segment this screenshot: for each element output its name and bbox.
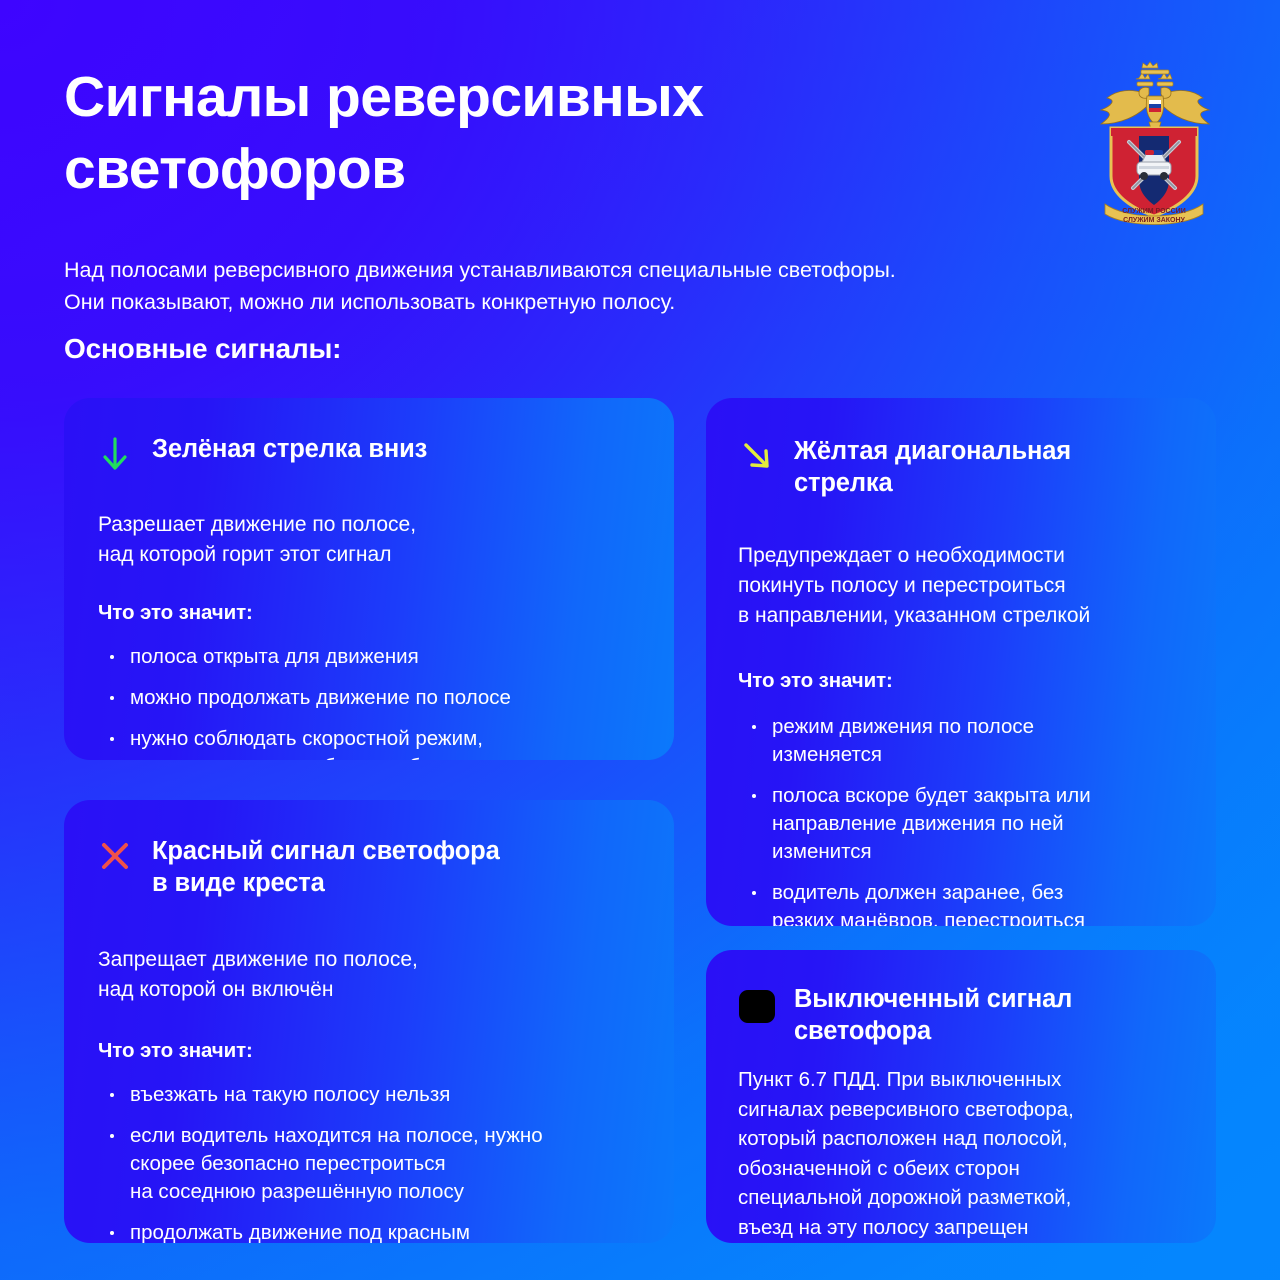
bullet-list: въезжать на такую полосу нельзя если вод…	[96, 1081, 638, 1243]
black-square-shape	[739, 990, 775, 1023]
means-label: Что это значит:	[738, 669, 1182, 693]
card-lead-text: Разрешает движение по полосе, над которо…	[98, 510, 638, 570]
card-lead-text: Предупреждает о необходимости покинуть п…	[738, 541, 1182, 630]
list-item: нужно соблюдать скоростной режим, дистан…	[96, 725, 638, 760]
arrow-diagonal-down-right-icon	[738, 436, 776, 476]
means-label: Что это значит:	[98, 601, 638, 625]
card-title: Выключенный сигнал светофора	[794, 982, 1072, 1047]
list-item: полоса открыта для движения	[96, 643, 638, 671]
bullet-list: режим движения по полосе изменяется поло…	[738, 713, 1182, 926]
page-subtitle: Над полосами реверсивного движения устан…	[64, 255, 1064, 319]
means-label: Что это значит:	[98, 1039, 638, 1063]
list-item: если водитель находится на полосе, нужно…	[96, 1122, 638, 1206]
card-header: Жёлтая диагональная стрелка	[738, 434, 1182, 499]
card-yellow-diagonal-arrow: Жёлтая диагональная стрелка Предупреждае…	[706, 398, 1216, 926]
infographic-page: Сигналы реверсивных светофоров Над полос…	[0, 0, 1280, 1280]
card-red-cross: Красный сигнал светофора в виде креста З…	[64, 800, 674, 1243]
card-lead-text: Запрещает движение по полосе, над которо…	[98, 945, 638, 1005]
page-title: Сигналы реверсивных светофоров	[64, 62, 884, 206]
list-item: полоса вскоре будет закрыта или направле…	[738, 782, 1182, 866]
section-heading: Основные сигналы:	[64, 333, 341, 365]
arrow-down-icon	[96, 434, 134, 474]
page-header: Сигналы реверсивных светофоров	[64, 62, 1044, 206]
card-green-arrow: Зелёная стрелка вниз Разрешает движение …	[64, 398, 674, 760]
card-header: Красный сигнал светофора в виде креста	[96, 834, 638, 899]
emblem-motto-top: СЛУЖИМ РОССИИ	[1122, 208, 1185, 215]
card-header: Выключенный сигнал светофора	[738, 982, 1182, 1047]
bullet-list: полоса открыта для движения можно продол…	[96, 643, 638, 760]
list-item: въезжать на такую полосу нельзя	[96, 1081, 638, 1109]
cross-icon	[96, 836, 134, 876]
black-square-icon	[738, 984, 776, 1024]
mvd-gibdd-emblem-icon: СЛУЖИМ РОССИИ СЛУЖИМ ЗАКОНУ	[1087, 58, 1222, 228]
card-title: Жёлтая диагональная стрелка	[794, 434, 1071, 499]
list-item: водитель должен заранее, без резких манё…	[738, 879, 1182, 926]
card-signal-off: Выключенный сигнал светофора Пункт 6.7 П…	[706, 950, 1216, 1243]
card-title: Зелёная стрелка вниз	[152, 432, 427, 465]
emblem-motto-bottom: СЛУЖИМ ЗАКОНУ	[1123, 217, 1185, 224]
list-item: режим движения по полосе изменяется	[738, 713, 1182, 769]
card-header: Зелёная стрелка вниз	[96, 432, 638, 474]
list-item: продолжать движение под красным сигналом…	[96, 1219, 638, 1243]
card-title: Красный сигнал светофора в виде креста	[152, 834, 500, 899]
list-item: можно продолжать движение по полосе	[96, 684, 638, 712]
card-lead-text: Пункт 6.7 ПДД. При выключенных сигналах …	[738, 1065, 1182, 1242]
